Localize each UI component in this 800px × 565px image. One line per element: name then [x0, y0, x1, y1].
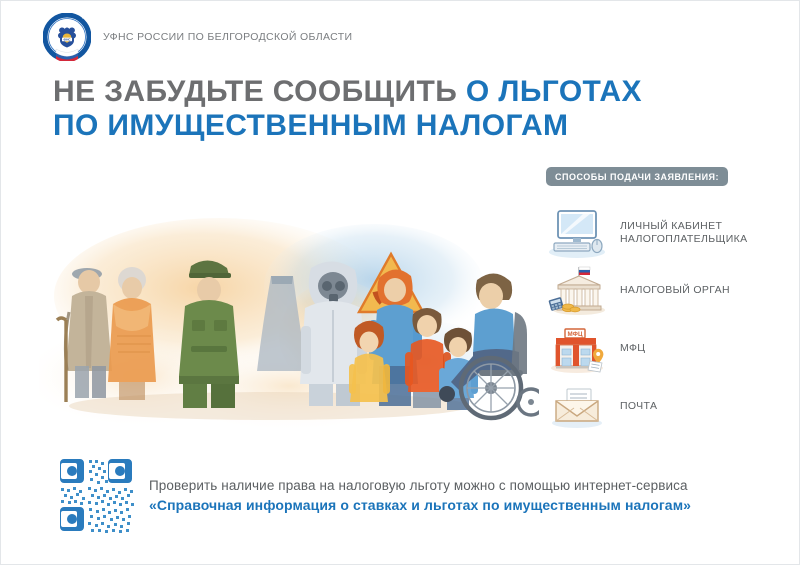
method-label-personal-cabinet: ЛИЧНЫЙ КАБИНЕТНАЛОГОПЛАТЕЛЬЩИКА [620, 220, 747, 247]
bank-building-icon [546, 265, 608, 317]
method-item-personal-cabinet[interactable]: ЛИЧНЫЙ КАБИНЕТНАЛОГОПЛАТЕЛЬЩИКА [546, 204, 786, 262]
fns-emblem-icon: ФЕДЕРАЛЬНАЯ НАЛОГОВАЯ СЛУЖБА ФНС [43, 13, 91, 61]
qr-code-icon[interactable] [57, 456, 135, 534]
poster-root: ФЕДЕРАЛЬНАЯ НАЛОГОВАЯ СЛУЖБА ФНС [0, 0, 800, 565]
headline-line1-blue: О ЛЬГОТАХ [466, 75, 642, 108]
page-title: НЕ ЗАБУДЬТЕ СООБЩИТЬ О ЛЬГОТАХ ПО ИМУЩЕС… [53, 75, 653, 143]
footer-service-note: Проверить наличие права на налоговую льг… [57, 456, 691, 534]
method-label-mfc: МФЦ [620, 342, 645, 356]
mfc-building-icon: МФЦ [546, 323, 608, 375]
methods-list: ЛИЧНЫЙ КАБИНЕТНАЛОГОПЛАТЕЛЬЩИКА [546, 204, 786, 436]
watercolor-beneficiaries-illustration [39, 216, 539, 431]
headline-line2: ПО ИМУЩЕСТВЕННЫМ НАЛОГАМ [53, 109, 653, 143]
svg-text:ФНС: ФНС [63, 38, 71, 42]
methods-badge: СПОСОБЫ ПОДАЧИ ЗАЯВЛЕНИЯ: [546, 167, 728, 186]
footer-line-1: Проверить наличие права на налоговую льг… [149, 476, 691, 495]
method-label-tax-authority: НАЛОГОВЫЙ ОРГАН [620, 284, 730, 298]
footer-text-block: Проверить наличие права на налоговую льг… [149, 476, 691, 515]
footer-line-2: «Справочная информация о ставках и льгот… [149, 495, 691, 515]
envelope-icon [546, 381, 608, 433]
method-item-mfc[interactable]: МФЦ [546, 320, 786, 378]
svg-text:МФЦ: МФЦ [568, 331, 583, 338]
method-item-tax-authority[interactable]: НАЛОГОВЫЙ ОРГАН [546, 262, 786, 320]
method-label-post: ПОЧТА [620, 400, 657, 414]
computer-icon [546, 207, 608, 259]
submission-methods-panel: СПОСОБЫ ПОДАЧИ ЗАЯВЛЕНИЯ: [546, 167, 786, 436]
org-name: УФНС РОССИИ ПО БЕЛГОРОДСКОЙ ОБЛАСТИ [103, 31, 352, 43]
headline-line1-grey: НЕ ЗАБУДЬТЕ СООБЩИТЬ [53, 75, 457, 108]
method-item-post[interactable]: ПОЧТА [546, 378, 786, 436]
poster-header: ФЕДЕРАЛЬНАЯ НАЛОГОВАЯ СЛУЖБА ФНС [43, 13, 352, 61]
